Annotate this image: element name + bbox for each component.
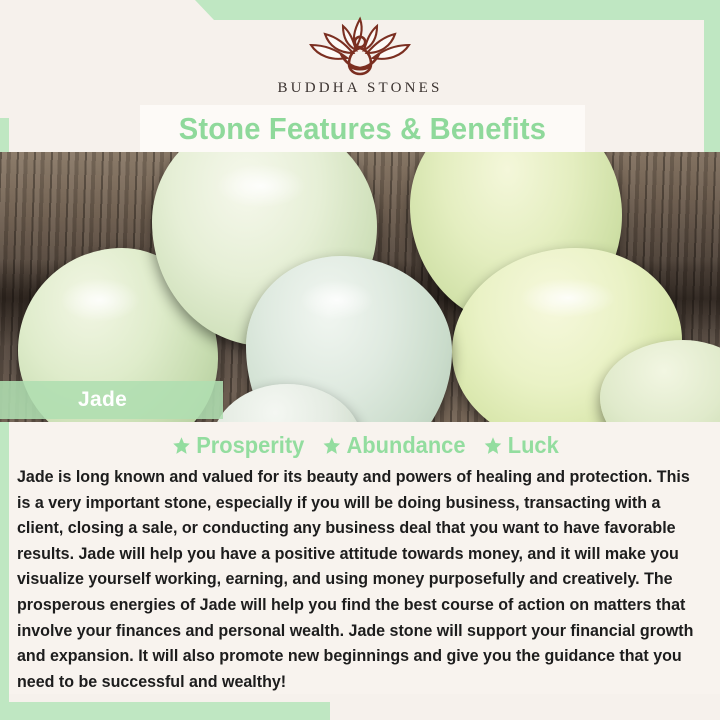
benefit-item: Abundance: [323, 432, 466, 459]
benefit-label: Prosperity: [196, 432, 304, 459]
lotus-meditation-icon: [285, 14, 435, 78]
stone-name: Jade: [78, 388, 127, 412]
benefit-item: Prosperity: [172, 432, 304, 459]
star-icon: [172, 436, 190, 455]
benefit-label: Abundance: [347, 432, 466, 459]
stone-description: Jade is long known and valued for its be…: [17, 465, 702, 695]
star-icon: [484, 436, 502, 455]
brand-name: BUDDHA STONES: [277, 80, 442, 97]
benefit-item: Luck: [484, 432, 559, 459]
page-title: Stone Features & Benefits: [179, 111, 546, 147]
section-title-band: Stone Features & Benefits: [140, 105, 585, 152]
description-panel: Prosperity Abundance Luck Jade is long k…: [9, 422, 720, 694]
benefit-label: Luck: [507, 432, 558, 459]
frame-bottom-accent: [0, 702, 330, 720]
stone-name-band: Jade: [0, 381, 223, 419]
brand-header: BUDDHA STONES: [0, 0, 720, 112]
benefits-row: Prosperity Abundance Luck: [9, 422, 720, 459]
star-icon: [323, 436, 341, 455]
stone-info-card: BUDDHA STONES Stone Features & Benefits …: [0, 0, 720, 720]
